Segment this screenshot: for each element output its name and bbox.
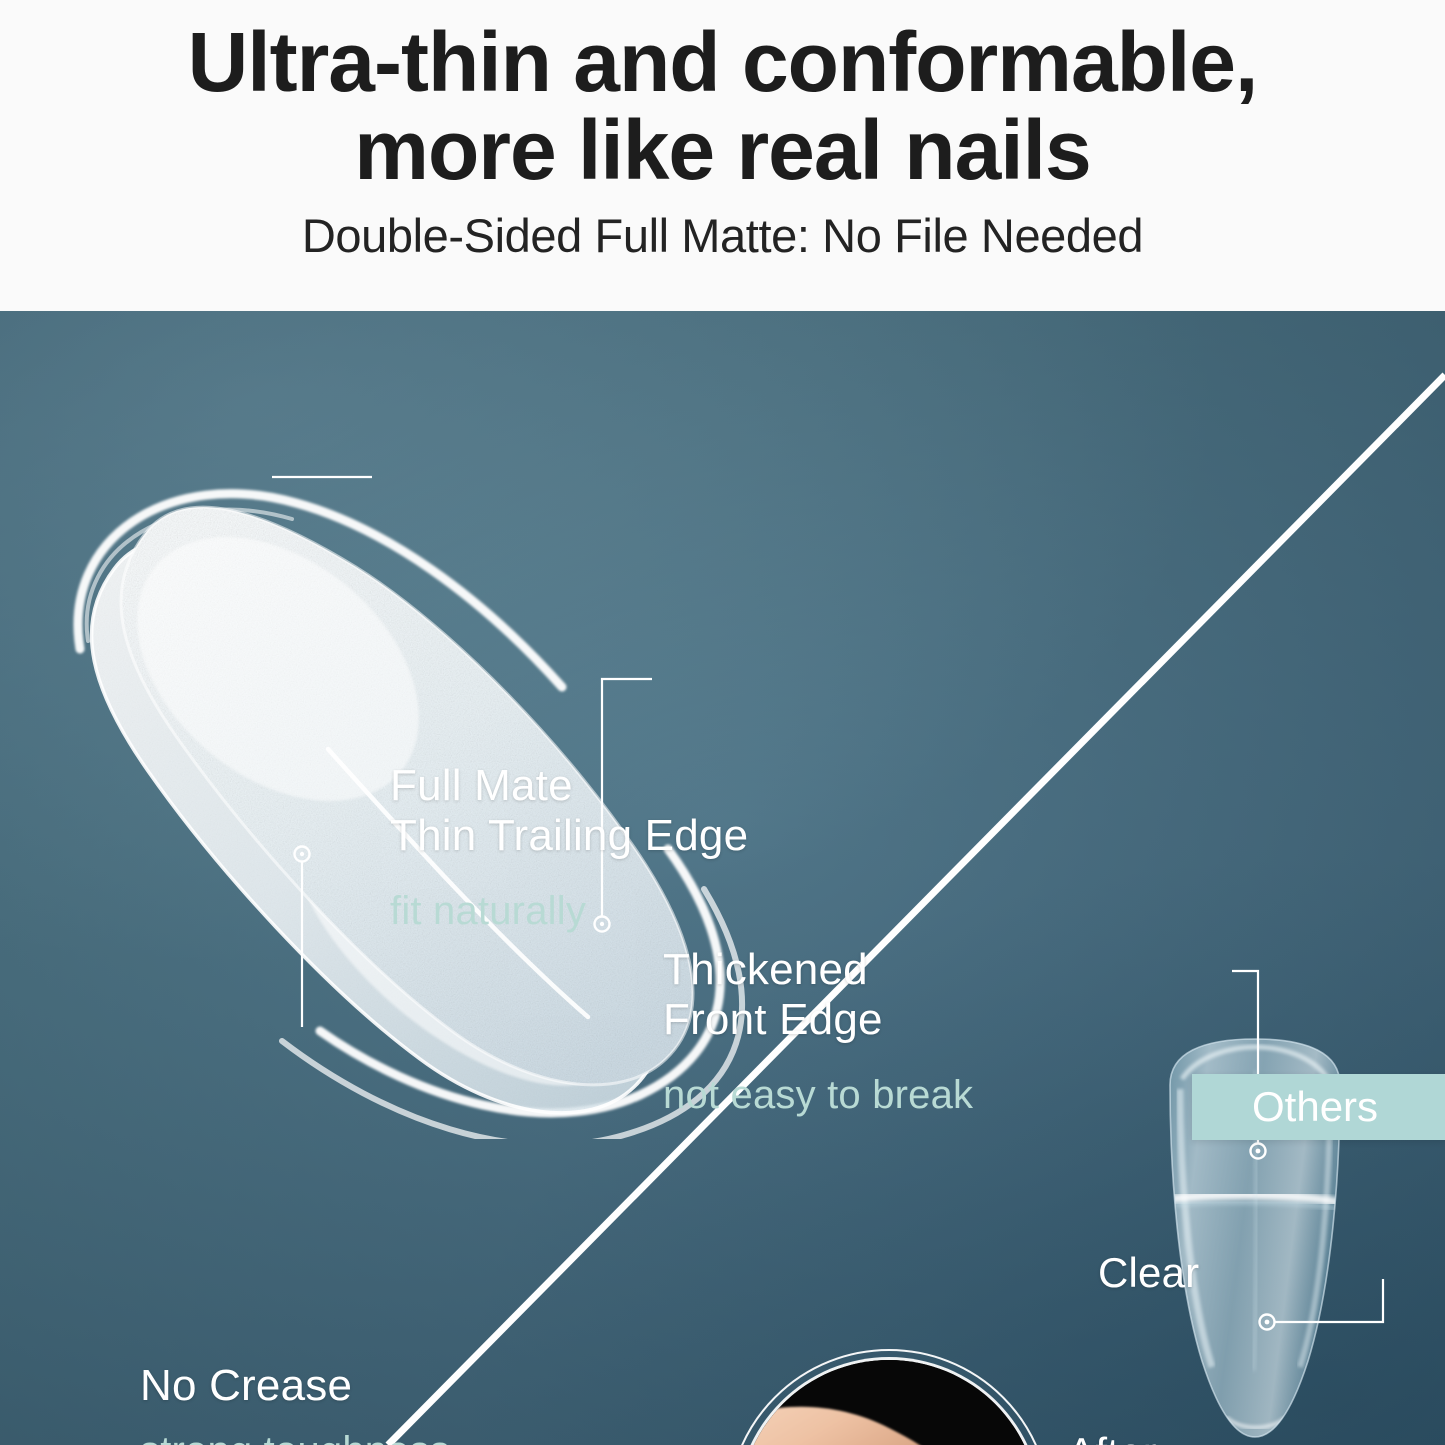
headline-line-2: more like real nails [0,106,1445,194]
infographic-root: Ultra-thin and conformable, more like re… [0,0,1445,1445]
annotation-after-bend-line1: After [1058,1429,1157,1445]
page-subtitle: Double-Sided Full Matte: No File Needed [302,208,1143,263]
annotation-clear: Clear [1098,1249,1199,1297]
right-leader-lines [0,311,1445,1445]
product-stage: Full Mate Thin Trailing Edge fit natural… [0,311,1445,1445]
annotation-thickened-line1: Thickened [663,945,883,995]
headline-line-1: Ultra-thin and conformable, [188,15,1258,109]
annotation-after-bend: After Bend [1058,1429,1157,1445]
competitor-badge-others: Others [1192,1074,1445,1140]
page-title: Ultra-thin and conformable, more like re… [0,18,1445,194]
annotation-thickened-front-edge: Thickened Front Edge [663,945,883,1045]
header-band: Ultra-thin and conformable, more like re… [0,0,1445,311]
annotation-no-crease: No Crease [140,1361,352,1411]
leader-line-abs [1275,1279,1383,1322]
annotation-full-matte-line2: Thin Trailing Edge [390,811,748,861]
anchor-dot-core-abs [1265,1320,1270,1325]
annotation-full-matte-line1: Full Mate [390,761,748,811]
annotation-thickened-line2: Front Edge [663,995,883,1045]
annotation-fit-naturally: fit naturally [390,889,586,934]
annotation-full-matte: Full Mate Thin Trailing Edge [390,761,748,861]
annotation-strong-toughness: strong toughness [140,1429,450,1445]
annotation-not-easy-to-break: not easy to break [663,1073,973,1118]
anchor-dot-core-clear [1256,1149,1261,1154]
